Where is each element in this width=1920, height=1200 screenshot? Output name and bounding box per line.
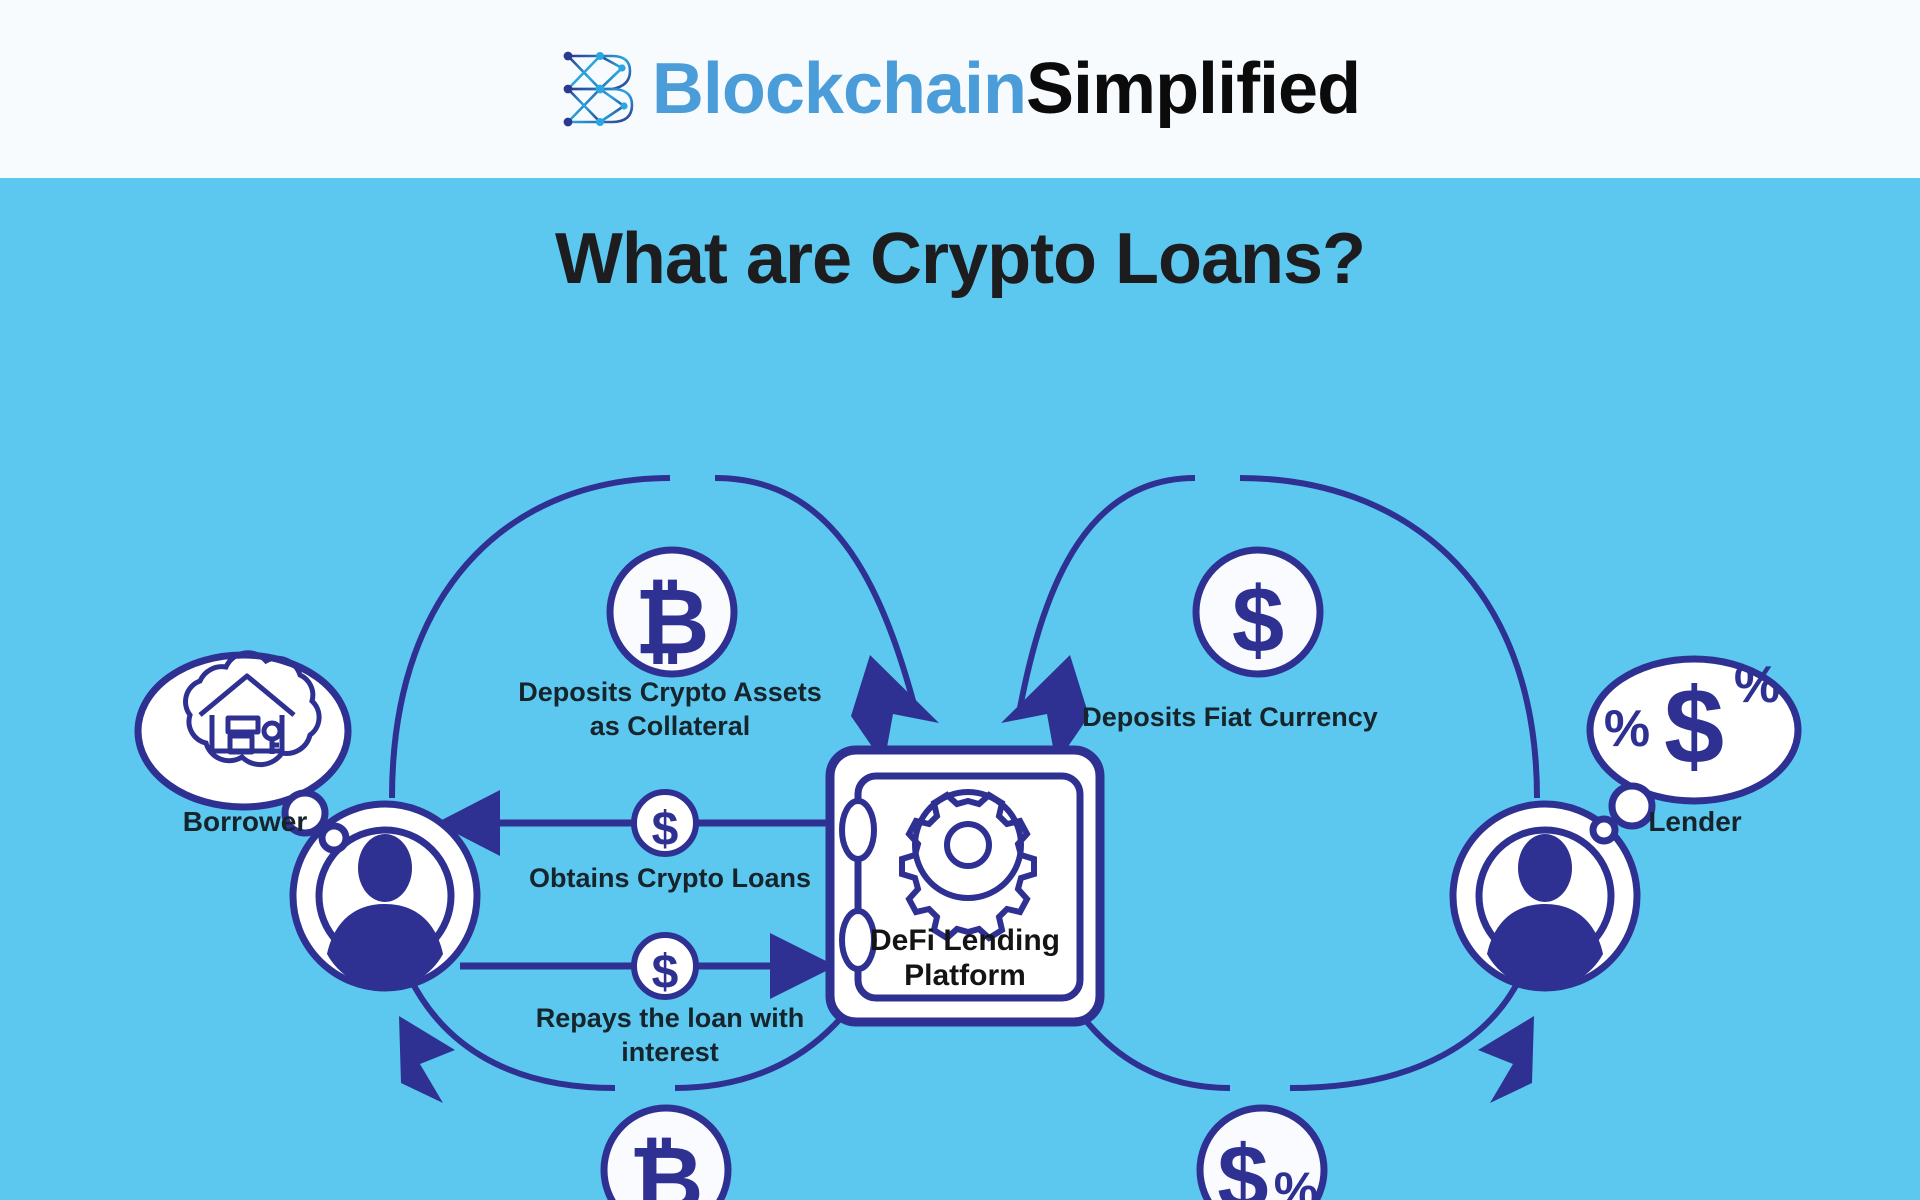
blockchain-b-network-logo-icon (560, 48, 638, 130)
token-bitcoin-bottom-left: ₿ (604, 1108, 728, 1200)
dollar-coin-icon: $ (652, 946, 679, 999)
infographic-root: BlockchainSimplified What are Crypto Loa… (0, 0, 1920, 1200)
lender-dollar-symbol: $ (1664, 665, 1724, 786)
brand-name: BlockchainSimplified (652, 53, 1360, 125)
brand-primary-text: Blockchain (652, 49, 1026, 129)
bitcoin-icon: ₿ (635, 571, 710, 673)
safe-hinge-top (842, 801, 874, 859)
token-dollar-top-right: $ (1196, 550, 1320, 674)
infographic-canvas: What are Crypto Loans? (0, 178, 1920, 1200)
lender-percent-left: % (1604, 700, 1650, 758)
dollar-icon: $ (1232, 567, 1284, 672)
bitcoin-icon: ₿ (629, 1129, 704, 1200)
flow-path-deposits-fiat-b (1020, 478, 1195, 708)
lender-percent-right: % (1734, 656, 1780, 714)
token-dollar-obtains-loans: $ (634, 792, 696, 856)
dollar-icon: $ (1217, 1127, 1268, 1200)
lender-label: Lender (1570, 804, 1820, 839)
flow-path-receives-funds-b (1290, 978, 1520, 1088)
brand-secondary-text: Simplified (1026, 49, 1360, 129)
diagram-svg: $ % % ₿ (0, 178, 1920, 1200)
token-bitcoin-top-left: ₿ (610, 550, 734, 674)
flow-label-repays-loan-with-interest: Repays the loan with interest (400, 1002, 940, 1070)
flow-label-obtains-crypto-loans: Obtains Crypto Loans (400, 862, 940, 896)
token-dollar-repays-loan: $ (634, 935, 696, 999)
arrowhead-to-lender (1478, 1016, 1534, 1103)
token-dollar-percent-bottom-right: $ % (1200, 1108, 1324, 1200)
dollar-coin-icon: $ (652, 803, 679, 856)
flow-label-deposits-fiat-currency: Deposits Fiat Currency (1000, 701, 1460, 735)
borrower-label: Borrower (110, 804, 380, 839)
percent-icon: % (1274, 1162, 1318, 1200)
brand-lockup: BlockchainSimplified (560, 48, 1360, 130)
page-header: BlockchainSimplified (0, 0, 1920, 178)
logo-svg (560, 48, 638, 130)
platform-label: DeFi Lending Platform (840, 923, 1090, 994)
flow-label-deposits-crypto-collateral: Deposits Crypto Assets as Collateral (400, 676, 940, 744)
